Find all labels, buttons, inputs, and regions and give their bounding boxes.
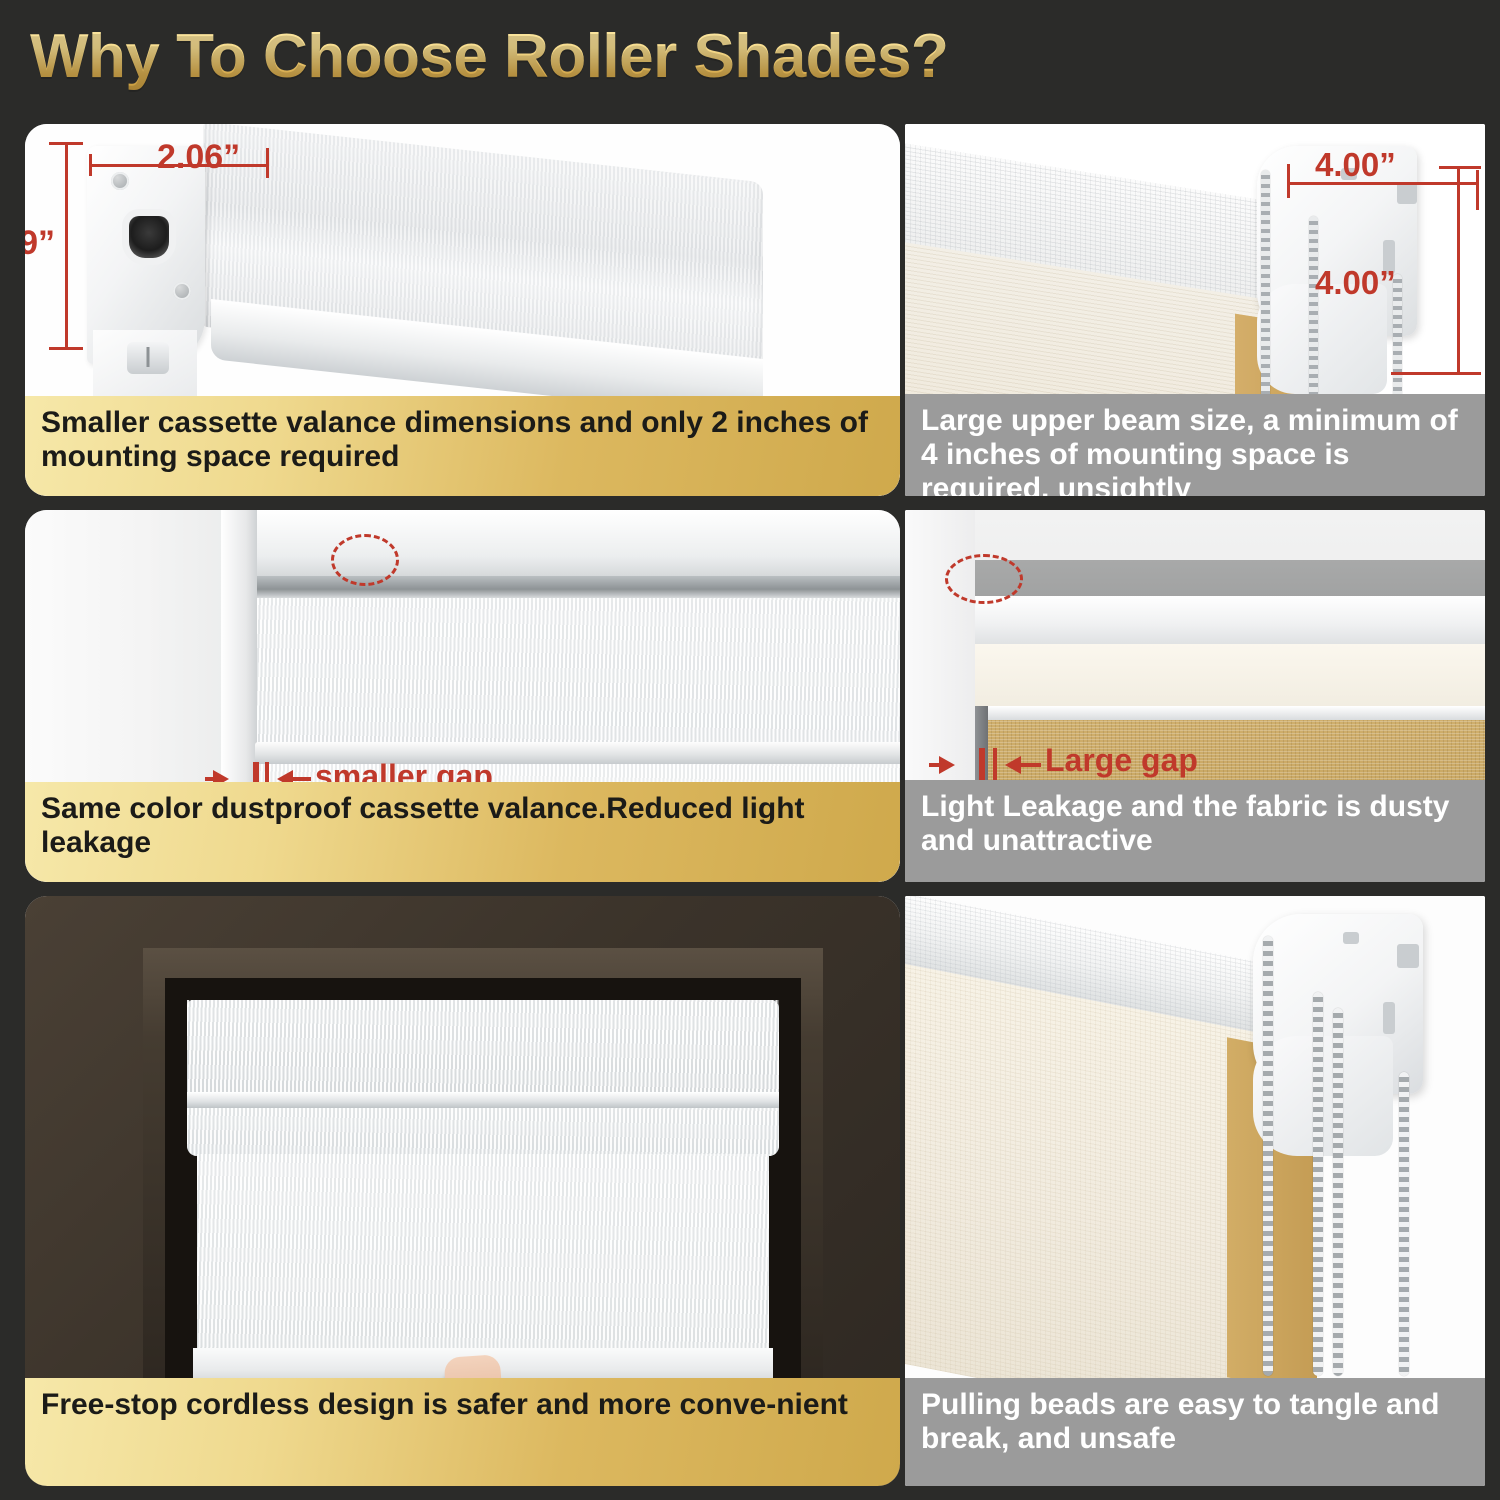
dimension-label-width: 2.06” — [157, 138, 240, 177]
dim-tick — [89, 154, 92, 176]
header: Why To Choose Roller Shades? — [0, 0, 1500, 112]
bead-chain-icon[interactable] — [1399, 1072, 1409, 1376]
bead-chain-icon[interactable] — [1263, 936, 1273, 1376]
bead-chain-icon[interactable] — [1333, 1008, 1343, 1376]
panel-1-caption: Smaller cassette valance dimensions and … — [25, 396, 900, 496]
panel-2-caption: Large upper beam size, a minimum of 4 in… — [905, 394, 1485, 496]
dim-line-vertical — [65, 142, 68, 350]
panel-3-dustproof-valance[interactable]: smaller gap Same color dustproof cassett… — [25, 510, 900, 882]
dim-tick — [49, 347, 83, 350]
gap-label-large: Large gap — [1045, 742, 1198, 779]
screw-icon — [173, 282, 191, 300]
panel-6-caption: Pulling beads are easy to tangle and bre… — [905, 1378, 1485, 1486]
dimension-label-height: 5.49” — [25, 224, 55, 263]
dimension-label-width: 4.00” — [1315, 146, 1396, 184]
dimension-label-height: 4.00” — [1315, 264, 1396, 302]
dim-tick — [49, 142, 83, 145]
page-title: Why To Choose Roller Shades? — [30, 21, 948, 92]
panel-5-caption: Free-stop cordless design is safer and m… — [25, 1378, 900, 1486]
dim-tick — [266, 148, 269, 178]
screw-icon — [111, 172, 129, 190]
panel-3-caption: Same color dustproof cassette valance.Re… — [25, 782, 900, 882]
cord-hole-icon — [129, 216, 169, 258]
highlight-circle-icon — [945, 554, 1023, 604]
panel-1-smaller-cassette[interactable]: 2.06” 5.49” Smaller cassette valance dim… — [25, 124, 900, 496]
panel-5-cordless-design[interactable]: Free-stop cordless design is safer and m… — [25, 896, 900, 1486]
panel-2-large-upper-beam[interactable]: 4.00” 4.00” Large upper beam size, a min… — [905, 124, 1485, 496]
panel-4-light-leakage[interactable]: Large gap Light Leakage and the fabric i… — [905, 510, 1485, 882]
panel-6-pulling-beads[interactable]: Pulling beads are easy to tangle and bre… — [905, 896, 1485, 1486]
highlight-circle-icon — [331, 534, 399, 586]
bracket-clip-icon — [127, 342, 169, 374]
bead-chain-icon[interactable] — [1313, 992, 1323, 1376]
panel-4-caption: Light Leakage and the fabric is dusty an… — [905, 780, 1485, 882]
comparison-grid: 2.06” 5.49” Smaller cassette valance dim… — [0, 112, 1500, 1500]
